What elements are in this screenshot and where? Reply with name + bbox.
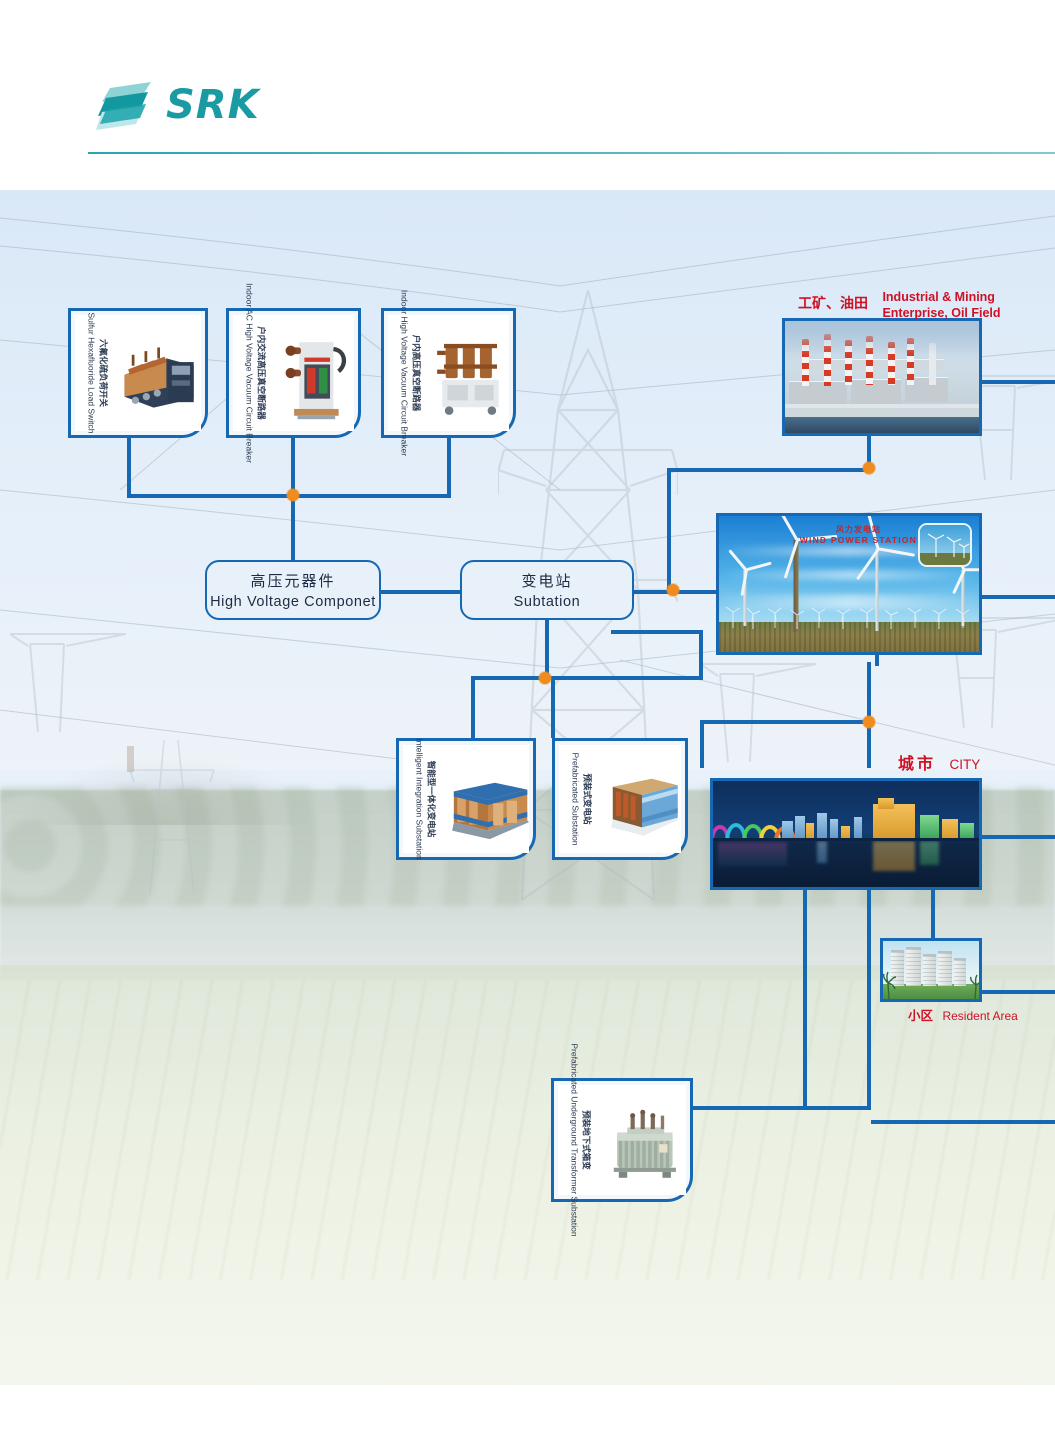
connector-lower-right-bus — [611, 630, 703, 634]
caption-cn: 小区 — [908, 1009, 933, 1023]
wind-farm-thumbnail[interactable] — [918, 523, 972, 567]
product-label-underground: 预装地下式箱变 Prefabricated Underground Transf… — [558, 1085, 602, 1195]
connector-industrial-exit — [981, 380, 1055, 384]
product-label-integrated: 智能型一体化变电站 Intelligent Integration Substa… — [403, 745, 447, 853]
node-label-cn: 变电站 — [521, 570, 572, 591]
background-transmission-tower-left — [10, 620, 130, 740]
caption-cn: 工矿、油田 — [798, 295, 868, 311]
node-high-voltage-component[interactable]: 高压元器件 High Voltage Componet — [205, 560, 381, 620]
connector-lower-right-riser — [699, 630, 703, 676]
product-card-indoor-ac-vcb[interactable]: 户内交流高压真空断路器 Indoor AC High Voltage Vacuu… — [226, 308, 361, 438]
connector-wind-down — [867, 662, 871, 722]
product-label-en: Sulfur Hexafluoride Load Switch — [86, 313, 96, 434]
sf6-load-switch-photo — [119, 315, 201, 431]
product-label-prefab: 预装式变电站 Prefabricated Substation — [559, 745, 603, 853]
srk-parallelogram-logo-icon — [96, 80, 158, 136]
product-label-cn: 六氟化硫负荷开关 — [98, 339, 108, 407]
product-label-cn: 预装式变电站 — [582, 773, 592, 824]
product-label-en: Indoor High Voltage Vacuum Circuit Break… — [399, 290, 409, 456]
product-label-en: Prefabricated Underground Transformer Su… — [569, 1043, 579, 1236]
product-label-indoor-hv-vcb: 户内高压真空断路器 Indoor High Voltage Vacuum Cir… — [388, 315, 432, 431]
product-label-en: Prefabricated Substation — [570, 752, 580, 845]
connector-bottom-right-bus — [871, 1120, 1055, 1124]
caption-city: 城市 CITY — [898, 750, 980, 774]
connector-lower-bus — [471, 676, 703, 680]
industrial-plant-photo[interactable] — [782, 318, 982, 436]
node-substation[interactable]: 变电站 Subtation — [460, 560, 634, 620]
connector-resident-exit — [981, 990, 1055, 994]
product-label-cn: 户内交流高压真空断路器 — [256, 326, 266, 420]
product-card-prefabricated-substation[interactable]: 预装式变电站 Prefabricated Substation — [552, 738, 688, 860]
product-card-sf6-load-switch[interactable]: 六氟化硫负荷开关 Sulfur Hexafluoride Load Switch — [68, 308, 208, 438]
caption-en-line1: Industrial & Mining — [882, 290, 1000, 306]
header-divider — [88, 152, 1055, 154]
product-label-cn: 户内高压真空断路器 — [411, 335, 421, 412]
page-header: SRK — [0, 0, 1055, 190]
connector-integrated-stem — [471, 676, 475, 738]
indoor-hv-vcb-photo — [432, 315, 509, 431]
caption-en-line2: Enterprise, Oil Field — [882, 306, 1000, 322]
integrated-substation-photo — [447, 745, 529, 853]
product-card-underground-transformer[interactable]: 预装地下式箱变 Prefabricated Underground Transf… — [551, 1078, 693, 1202]
connector-hv-to-substation — [380, 590, 462, 594]
connector-city-stem — [700, 720, 704, 768]
diagram-canvas: 六氟化硫负荷开关 Sulfur Hexafluoride Load Switch — [0, 190, 1055, 1385]
product-card-indoor-hv-vcb[interactable]: 户内高压真空断路器 Indoor High Voltage Vacuum Cir… — [381, 308, 516, 438]
connector-vcb2-stem — [447, 438, 451, 498]
connector-sf6-stem — [127, 438, 131, 498]
wind-overlay-en: WIND POWER STATION — [800, 535, 917, 545]
connector-left-bus — [127, 494, 295, 498]
residential-buildings-photo[interactable] — [880, 938, 982, 1002]
poster-page: SRK — [0, 0, 1055, 1441]
connector-up-to-industrial — [667, 468, 671, 594]
product-label-cn: 智能型一体化变电站 — [426, 761, 436, 838]
connector-city-to-underground — [867, 890, 871, 1110]
background-field-furrows — [0, 980, 1055, 1280]
junction-dot-substation-down — [539, 672, 551, 684]
brand-logo: SRK — [96, 78, 296, 138]
connector-hv-node-stem — [291, 494, 295, 560]
node-label-en: High Voltage Componet — [210, 594, 376, 610]
connector-resident-stem — [931, 890, 935, 938]
background-transmission-tower-mid — [700, 650, 820, 770]
indoor-ac-vcb-photo — [277, 315, 354, 431]
product-label-indoor-ac-vcb: 户内交流高压真空断路器 Indoor AC High Voltage Vacuu… — [233, 315, 277, 431]
connector-left-bus-2 — [291, 494, 451, 498]
caption-industrial-mining: 工矿、油田 Industrial & Mining Enterprise, Oi… — [798, 290, 1001, 321]
junction-dot-left-bus — [287, 489, 299, 501]
palm-trees — [883, 941, 979, 999]
product-label-en: Indoor AC High Voltage Vacuum Circuit Br… — [244, 283, 254, 463]
brand-name: SRK — [166, 82, 260, 128]
connector-industrial-bus — [667, 468, 869, 472]
connector-underground-bus — [691, 1106, 871, 1110]
background-transmission-tower-far — [120, 730, 230, 900]
caption-en: CITY — [949, 757, 980, 772]
wind-overlay-cn: 风力发电站 — [800, 524, 917, 535]
connector-city-exit — [981, 835, 1055, 839]
connector-city-down-left — [803, 890, 807, 1106]
junction-dot-wind-down — [863, 716, 875, 728]
caption-en: Resident Area — [942, 1009, 1017, 1023]
node-label-en: Subtation — [514, 594, 581, 610]
underground-transformer-photo — [602, 1085, 686, 1195]
city-night-skyline-photo[interactable] — [710, 778, 982, 890]
product-card-integrated-substation[interactable]: 智能型一体化变电站 Intelligent Integration Substa… — [396, 738, 536, 860]
prefabricated-substation-photo — [603, 745, 681, 853]
wind-overlay-caption: 风力发电站 WIND POWER STATION — [800, 524, 917, 545]
product-label-cn: 预装地下式箱变 — [581, 1110, 591, 1170]
product-label-sf6: 六氟化硫负荷开关 Sulfur Hexafluoride Load Switch — [75, 315, 119, 431]
connector-city-bus — [700, 720, 871, 724]
connector-prefab-stem — [551, 676, 555, 738]
caption-resident-area: 小区 Resident Area — [908, 1005, 1018, 1025]
wind-farm-photo[interactable]: 风力发电站 WIND POWER STATION — [716, 513, 982, 655]
junction-dot-substation-right — [667, 584, 679, 596]
caption-cn: 城市 — [898, 756, 936, 773]
junction-dot-industrial — [863, 462, 875, 474]
connector-substation-down — [545, 615, 549, 678]
connector-wind-exit — [981, 595, 1055, 599]
node-label-cn: 高压元器件 — [250, 570, 335, 591]
product-label-en: Intelligent Integration Substation — [414, 738, 424, 859]
